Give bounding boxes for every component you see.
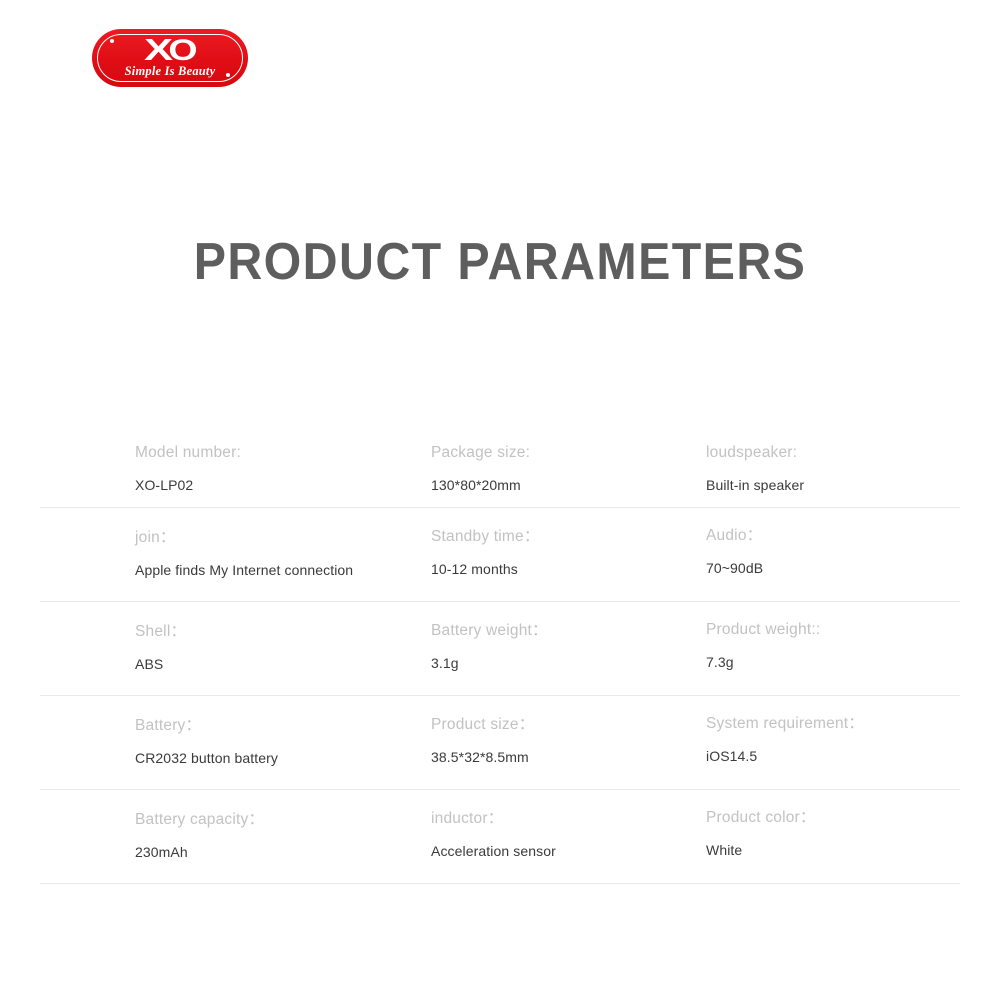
spec-value: Acceleration sensor xyxy=(431,843,711,860)
spec-cell: System requirement： iOS14.5 xyxy=(706,696,961,765)
spec-table: Model number: XO-LP02 Package size: 130*… xyxy=(40,430,960,884)
spec-cell: Package size: 130*80*20mm xyxy=(431,430,711,494)
page-title: PRODUCT PARAMETERS xyxy=(35,232,965,292)
table-row: Shell： ABS Battery weight： 3.1g Product … xyxy=(40,602,960,696)
spec-label: Battery： xyxy=(135,717,435,735)
spec-label: Battery weight： xyxy=(431,622,711,640)
spec-label: Shell： xyxy=(135,623,435,641)
spec-label: Product weight:: xyxy=(706,621,961,639)
spec-cell: join： Apple finds My Internet connection xyxy=(135,508,435,579)
spec-cell: Standby time： 10-12 months xyxy=(431,508,711,578)
spec-label: inductor： xyxy=(431,810,711,828)
spec-value: 3.1g xyxy=(431,655,711,672)
spec-cell: inductor： Acceleration sensor xyxy=(431,790,711,860)
spec-cell: Product color： White xyxy=(706,790,961,859)
spec-value: 130*80*20mm xyxy=(431,477,711,494)
spec-cell: loudspeaker: Built-in speaker xyxy=(706,430,961,494)
brand-logo: XO Simple Is Beauty xyxy=(92,29,248,87)
spec-cell: Battery： CR2032 button battery xyxy=(135,696,435,767)
spec-label: Product size： xyxy=(431,716,711,734)
spec-value: Apple finds My Internet connection xyxy=(135,562,435,579)
spec-cell: Model number: XO-LP02 xyxy=(135,430,435,494)
spec-cell: Product weight:: 7.3g xyxy=(706,602,961,671)
logo-letter-x: X xyxy=(144,36,170,67)
spec-value: White xyxy=(706,842,961,859)
product-parameters-page: XO Simple Is Beauty PRODUCT PARAMETERS M… xyxy=(0,0,1000,1000)
spec-value: 230mAh xyxy=(135,844,435,861)
spec-cell: Product size： 38.5*32*8.5mm xyxy=(431,696,711,766)
spec-cell: Audio： 70~90dB xyxy=(706,508,961,577)
logo-wordmark: XO xyxy=(92,36,248,66)
spec-label: Package size: xyxy=(431,444,711,462)
spec-cell: Shell： ABS xyxy=(135,602,435,673)
logo-letter-o: O xyxy=(168,36,195,66)
table-row: Model number: XO-LP02 Package size: 130*… xyxy=(40,430,960,508)
spec-label: Product color： xyxy=(706,809,961,827)
spec-value: XO-LP02 xyxy=(135,477,435,494)
logo-badge: XO Simple Is Beauty xyxy=(92,29,248,87)
spec-label: join： xyxy=(135,529,435,547)
spec-value: ABS xyxy=(135,656,435,673)
spec-label: Battery capacity： xyxy=(135,811,435,829)
table-row: Battery capacity： 230mAh inductor： Accel… xyxy=(40,790,960,884)
spec-label: Model number: xyxy=(135,444,435,462)
spec-cell: Battery capacity： 230mAh xyxy=(135,790,435,861)
spec-value: iOS14.5 xyxy=(706,748,961,765)
spec-value: 7.3g xyxy=(706,654,961,671)
spec-label: loudspeaker: xyxy=(706,444,961,462)
spec-label: Audio： xyxy=(706,527,961,545)
spec-value: 10-12 months xyxy=(431,561,711,578)
table-row: Battery： CR2032 button battery Product s… xyxy=(40,696,960,790)
spec-value: 70~90dB xyxy=(706,560,961,577)
spec-label: Standby time： xyxy=(431,528,711,546)
spec-label: System requirement： xyxy=(706,715,961,733)
spec-cell: Battery weight： 3.1g xyxy=(431,602,711,672)
spec-value: CR2032 button battery xyxy=(135,750,435,767)
spec-value: Built-in speaker xyxy=(706,477,961,494)
spec-value: 38.5*32*8.5mm xyxy=(431,749,711,766)
logo-tagline: Simple Is Beauty xyxy=(92,65,248,78)
table-row: join： Apple finds My Internet connection… xyxy=(40,508,960,602)
